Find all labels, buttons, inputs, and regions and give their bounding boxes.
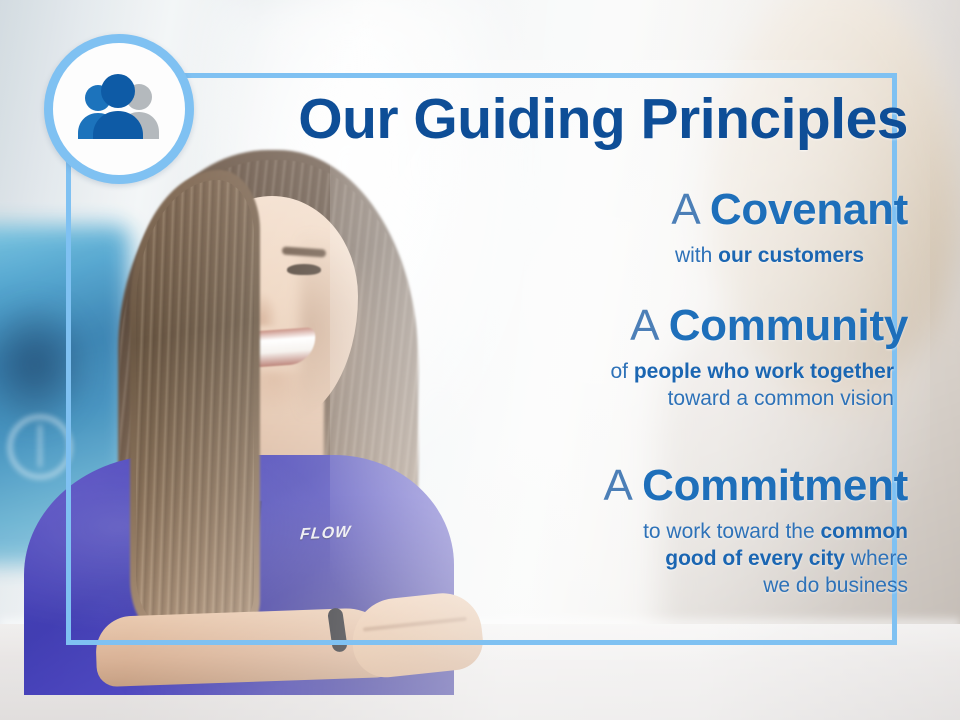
principle-body-line: with our customers [671,242,864,269]
covenant-lead: A [671,185,698,234]
emphasis-text: common [820,520,908,543]
commitment-key: Commitment [642,461,908,510]
principle-body-line: good of every city where [604,545,908,572]
principle-commitment: A Commitment to work toward the commongo… [604,462,908,599]
principle-body-covenant: with our customers [671,242,908,269]
emphasis-text: people who work together [634,360,894,383]
principle-body-commitment: to work toward the commongood of every c… [604,518,908,600]
principle-community: A Community of people who work togethert… [610,302,908,412]
community-key: Community [669,301,908,350]
commitment-lead: A [604,461,631,510]
page-title: Our Guiding Principles [0,90,908,150]
body-text: with [675,244,718,267]
principle-body-line: of people who work together [610,358,894,385]
principle-body-community: of people who work togethertoward a comm… [610,358,908,413]
principle-body-line: to work toward the common [604,518,908,545]
principle-body-line: we do business [604,572,908,599]
principle-covenant: A Covenant with our customers [671,186,908,269]
employee-face-shadow [300,230,380,420]
covenant-key: Covenant [710,185,908,234]
emphasis-text: good of every city [665,547,845,570]
body-text: where [845,547,908,570]
employee-shirt-logo: FLOW [299,524,352,545]
employee-forearm [95,607,397,687]
body-text: we do business [763,574,908,597]
employee-hair-front-strands [136,180,254,630]
emphasis-text: our customers [718,244,864,267]
principle-headline-commitment: A Commitment [604,462,908,510]
principle-headline-community: A Community [610,302,908,350]
poster-canvas: FLOW FLOW [0,0,960,720]
community-lead: A [630,301,657,350]
body-text: toward a common vision [668,387,894,410]
body-text: of [610,360,633,383]
body-text: to work toward the [643,520,820,543]
principle-headline-covenant: A Covenant [671,186,908,234]
employee-eye-right [287,264,321,275]
principle-body-line: toward a common vision [610,385,894,412]
